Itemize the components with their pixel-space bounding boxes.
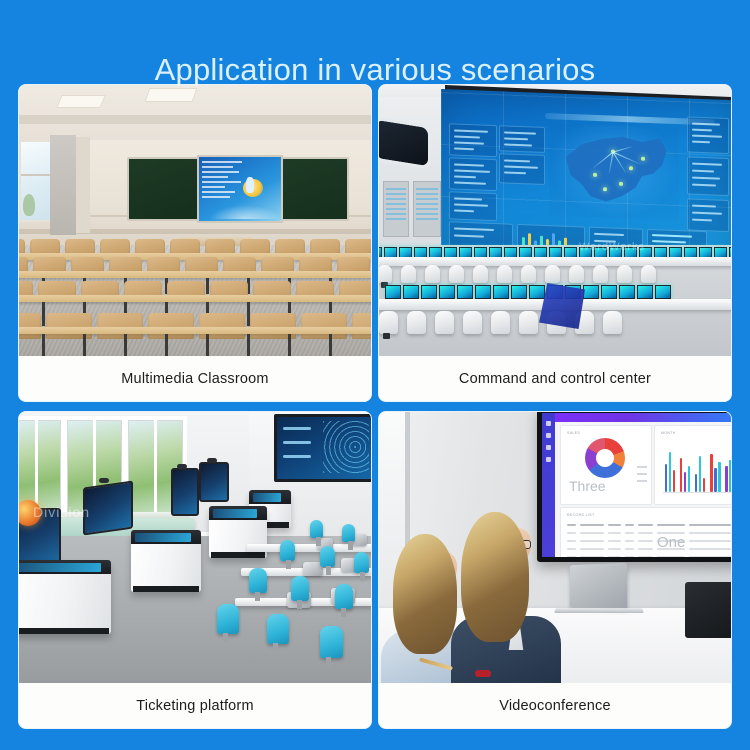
attendee-hair bbox=[393, 534, 457, 654]
desk-top bbox=[19, 327, 371, 334]
chair bbox=[342, 524, 355, 542]
display-graphic-figure bbox=[246, 177, 254, 193]
window-mullion bbox=[21, 174, 51, 176]
card-caption-ticketing-platform: Ticketing platform bbox=[19, 683, 371, 728]
display-glow bbox=[209, 205, 281, 219]
kiosk-screen[interactable] bbox=[213, 509, 257, 518]
app-sidebar[interactable] bbox=[542, 413, 555, 557]
interactive-display bbox=[197, 155, 283, 223]
wall-monitor bbox=[379, 116, 431, 169]
card-caption-command-and-control-center: Command and control center bbox=[379, 356, 731, 401]
chair bbox=[217, 604, 239, 634]
scenario-card-videoconference[interactable]: SALES Three MONTH bbox=[379, 412, 731, 728]
chair bbox=[310, 520, 323, 538]
chair bbox=[320, 546, 335, 567]
dashboard-panel bbox=[499, 153, 545, 185]
ceiling-light-panel bbox=[56, 95, 106, 108]
scenario-card-command-and-control-center[interactable]: WordWorks Command and control center bbox=[379, 85, 731, 401]
table-row bbox=[567, 548, 731, 550]
map-node bbox=[593, 173, 597, 177]
chair bbox=[320, 626, 343, 658]
chair bbox=[354, 552, 369, 573]
camera bbox=[99, 478, 109, 483]
dashboard-panel bbox=[449, 123, 497, 157]
map-node bbox=[603, 187, 607, 191]
ceiling-beam bbox=[19, 115, 371, 124]
donut-chart bbox=[585, 438, 625, 478]
chair bbox=[291, 576, 309, 601]
kiosk-screen[interactable] bbox=[253, 493, 281, 502]
dashboard-panel bbox=[687, 156, 729, 196]
desk-legs bbox=[19, 334, 370, 356]
ticketing-kiosk[interactable] bbox=[19, 560, 111, 634]
videoconference-photo: SALES Three MONTH bbox=[379, 412, 731, 683]
display-text-lines bbox=[202, 161, 246, 207]
image-watermark: Division bbox=[33, 504, 90, 520]
chair-group bbox=[379, 311, 631, 334]
bar-chart bbox=[663, 442, 731, 492]
ticketing-scene: Division bbox=[19, 412, 371, 683]
kiosk-base bbox=[19, 628, 109, 634]
laptop-screen bbox=[570, 563, 628, 610]
kiosk-screen[interactable] bbox=[19, 563, 101, 572]
desk-top bbox=[19, 295, 371, 302]
map-node bbox=[629, 166, 633, 170]
window-foliage bbox=[23, 194, 35, 216]
table-card-title: RECORD LIST bbox=[567, 513, 594, 517]
kiosk-screen[interactable] bbox=[135, 533, 191, 542]
kiosk-body bbox=[131, 544, 201, 592]
map-node bbox=[641, 157, 645, 161]
chair-group bbox=[379, 265, 665, 283]
ceiling-light-panel bbox=[144, 88, 197, 102]
attendee-hair bbox=[461, 512, 529, 642]
desk-object bbox=[475, 670, 491, 677]
classroom-window bbox=[19, 140, 53, 222]
bar-group bbox=[710, 454, 722, 492]
wall-pillar bbox=[76, 137, 90, 233]
scenario-card-multimedia-classroom[interactable]: Multimedia Classroom bbox=[19, 85, 371, 401]
table-row bbox=[567, 540, 731, 542]
chair bbox=[335, 584, 353, 609]
donut-caption: Three bbox=[569, 478, 606, 494]
videoconference-scene: SALES Three MONTH bbox=[379, 412, 731, 683]
dashboard-panel bbox=[499, 125, 545, 153]
table-caption: One bbox=[657, 534, 685, 551]
vertical-kiosk-screen bbox=[199, 462, 229, 502]
classroom-scene bbox=[19, 85, 371, 356]
card-caption-multimedia-classroom: Multimedia Classroom bbox=[19, 356, 371, 401]
wall-mounted-touchscreen[interactable]: SALES Three MONTH bbox=[537, 412, 731, 562]
dashboard-panel bbox=[449, 157, 497, 191]
cabinet-screen bbox=[416, 188, 438, 222]
table-row bbox=[567, 556, 731, 558]
display-graphic bbox=[323, 421, 369, 473]
image-watermark: WordWorks bbox=[579, 241, 645, 253]
kiosk-body bbox=[19, 574, 111, 634]
scenario-card-grid: Multimedia Classroom bbox=[19, 85, 731, 733]
scenario-card-ticketing-platform[interactable]: Division bbox=[19, 412, 371, 728]
operator-console-blue bbox=[539, 283, 585, 329]
donut-legend bbox=[637, 466, 647, 487]
dashboard-donut-card: SALES Three bbox=[560, 425, 652, 505]
card-caption-videoconference: Videoconference bbox=[379, 683, 731, 728]
dashboard-map bbox=[549, 123, 679, 220]
cabinet-screen bbox=[386, 188, 406, 222]
laptop-keyboard bbox=[554, 608, 644, 613]
map-country-shape bbox=[557, 131, 669, 209]
camera bbox=[207, 458, 217, 463]
camera bbox=[177, 464, 187, 469]
control-room-scene: WordWorks bbox=[379, 85, 731, 356]
counter-display bbox=[83, 480, 133, 535]
dashboard-bar-card: MONTH bbox=[654, 425, 731, 505]
chalkboard-left bbox=[127, 157, 199, 221]
chair bbox=[267, 614, 289, 644]
side-cabinet bbox=[383, 181, 409, 237]
kiosk-base bbox=[211, 552, 265, 558]
side-cabinet bbox=[413, 181, 441, 237]
bar-group bbox=[695, 456, 707, 492]
ticketing-kiosk[interactable] bbox=[131, 530, 201, 592]
table-row bbox=[567, 532, 731, 534]
wall-display bbox=[274, 414, 371, 482]
app-top-bar bbox=[555, 413, 731, 422]
second-laptop bbox=[685, 582, 731, 638]
video-wall-dashboard bbox=[441, 89, 731, 260]
page-title: Application in various scenarios bbox=[0, 51, 750, 89]
chalkboard-right bbox=[281, 157, 349, 221]
map-node bbox=[619, 182, 623, 186]
dashboard-panel bbox=[687, 116, 729, 154]
monitor-group bbox=[385, 285, 673, 299]
led-video-wall bbox=[441, 89, 731, 260]
control-room-photo: WordWorks bbox=[379, 85, 731, 356]
bar-group bbox=[665, 452, 677, 492]
vertical-kiosk-screen bbox=[171, 468, 199, 516]
classroom-photo bbox=[19, 85, 371, 356]
kiosk-base bbox=[133, 586, 199, 592]
dashboard-panel bbox=[687, 198, 729, 232]
wall-pillar bbox=[50, 135, 76, 235]
dashboard-panel bbox=[449, 191, 497, 221]
data-table bbox=[567, 524, 731, 558]
desk-top bbox=[19, 271, 371, 278]
scenarios-page: Application in various scenarios bbox=[0, 0, 750, 750]
bar-chart-axis bbox=[663, 492, 731, 493]
bar-group bbox=[725, 460, 731, 492]
donut-card-title: SALES bbox=[567, 431, 580, 435]
bar-card-title: MONTH bbox=[661, 431, 676, 435]
ticketing-photo: Division bbox=[19, 412, 371, 683]
chair bbox=[249, 568, 267, 593]
bar-group bbox=[680, 458, 692, 492]
table-header-row bbox=[567, 524, 731, 526]
touchscreen-content: SALES Three MONTH bbox=[542, 413, 731, 557]
dashboard-table-card: RECORD LIST bbox=[560, 507, 731, 559]
chair bbox=[280, 540, 295, 561]
